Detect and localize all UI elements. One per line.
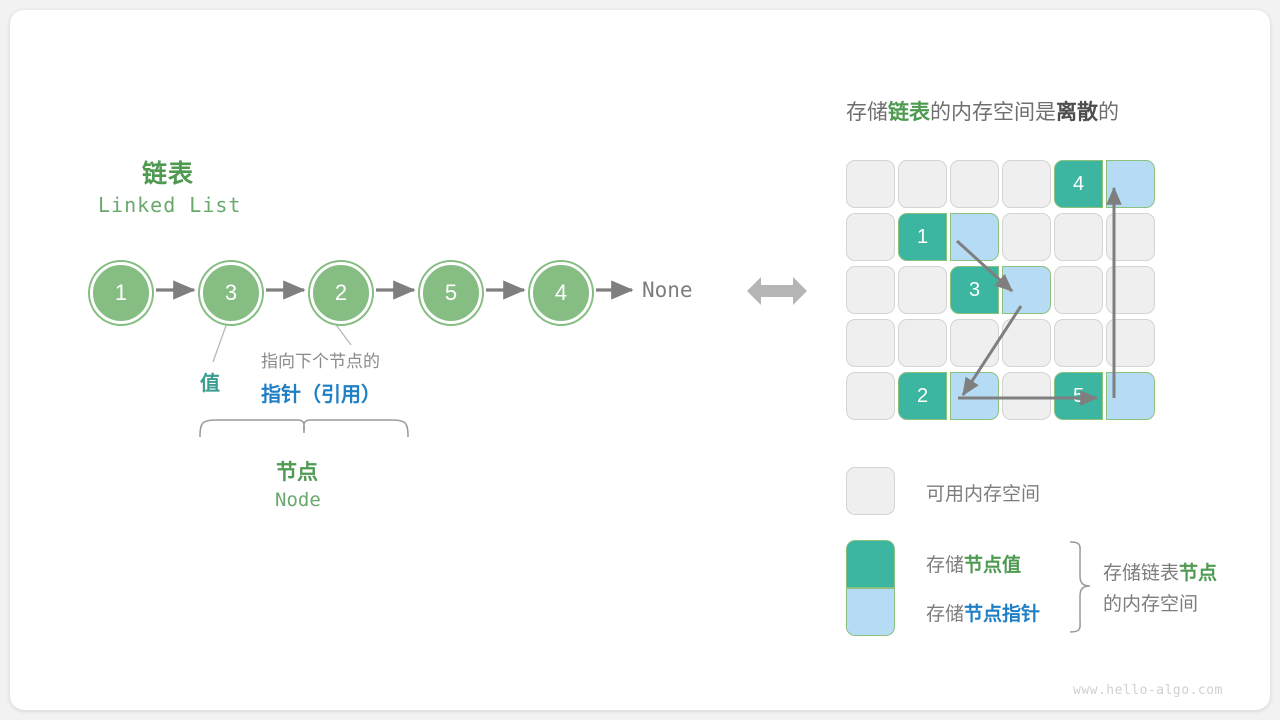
- memory-title-part: 链表: [888, 101, 930, 124]
- list-node: 1: [90, 262, 152, 324]
- watermark: www.hello-algo.com: [1073, 683, 1223, 698]
- diagram-card: 链表 Linked List 1 3 2 5 4 None 值 指向下个节点的 …: [10, 10, 1270, 710]
- memory-cell-value: 5: [1054, 372, 1103, 420]
- memory-cell-free: [846, 160, 895, 208]
- memory-cell-free: [1054, 213, 1103, 261]
- memory-cell-free: [950, 319, 999, 367]
- memory-cell-number: 3: [969, 279, 980, 302]
- bidirectional-arrow-icon: [745, 272, 809, 312]
- memory-cell-free: [1054, 319, 1103, 367]
- memory-cell-value: 4: [1054, 160, 1103, 208]
- legend-free-label: 可用内存空间: [926, 479, 1040, 506]
- memory-cell-free: [1002, 319, 1051, 367]
- memory-cell-value: 3: [950, 266, 999, 314]
- legend-brace: [1064, 538, 1104, 638]
- memory-title-part: 的内存空间是: [930, 101, 1056, 124]
- legend-side-line1-b: 节点: [1179, 563, 1217, 584]
- list-node: 4: [530, 262, 592, 324]
- node-value: 2: [335, 280, 347, 306]
- memory-cell-free: [1106, 213, 1155, 261]
- memory-cell-number: 5: [1073, 385, 1084, 408]
- legend-pointer-label: 存储节点指针: [926, 599, 1040, 626]
- memory-cell-value: 2: [898, 372, 947, 420]
- value-annotation: 值: [200, 367, 220, 396]
- memory-title-part: 离散: [1056, 101, 1098, 124]
- memory-cell-pointer: [950, 213, 999, 261]
- list-node: 3: [200, 262, 262, 324]
- node-annotation-cn: 节点: [276, 456, 318, 486]
- memory-cell-free: [950, 160, 999, 208]
- memory-cell-pointer: [950, 372, 999, 420]
- memory-cell-free: [1054, 266, 1103, 314]
- legend-swatch-free: [846, 467, 895, 515]
- pointer-annotation-line2: 指针（引用）: [261, 378, 381, 407]
- memory-cell-free: [1106, 319, 1155, 367]
- legend-pointer-prefix: 存储: [926, 604, 964, 625]
- memory-cell-number: 4: [1073, 173, 1084, 196]
- legend-swatch-value: [846, 540, 895, 588]
- memory-cell-free: [846, 319, 895, 367]
- memory-cell-number: 2: [917, 385, 928, 408]
- memory-title: 存储链表的内存空间是离散的: [846, 96, 1119, 126]
- memory-title-part: 的: [1098, 101, 1119, 124]
- legend-value-label: 存储节点值: [926, 550, 1021, 577]
- memory-cell-free: [1106, 266, 1155, 314]
- memory-cell-value: 1: [898, 213, 947, 261]
- legend-side-line2: 的内存空间: [1103, 594, 1198, 615]
- memory-cell-pointer: [1106, 160, 1155, 208]
- legend-swatch-pointer: [846, 588, 895, 636]
- memory-cell-free: [1002, 160, 1051, 208]
- legend-value-prefix: 存储: [926, 555, 964, 576]
- memory-cell-free: [846, 213, 895, 261]
- list-node: 5: [420, 262, 482, 324]
- memory-cell-free: [898, 160, 947, 208]
- memory-grid: 4 1 3 2 5: [846, 160, 1158, 422]
- memory-cell-pointer: [1106, 372, 1155, 420]
- legend-side-label: 存储链表节点 的内存空间: [1103, 558, 1217, 620]
- list-node: 2: [310, 262, 372, 324]
- memory-cell-number: 1: [917, 226, 928, 249]
- node-value: 4: [555, 280, 567, 306]
- legend-pointer-bold: 节点指针: [964, 604, 1040, 625]
- node-annotation-en: Node: [275, 489, 321, 511]
- memory-cell-free: [898, 266, 947, 314]
- memory-cell-free: [898, 319, 947, 367]
- memory-title-part: 存储: [846, 101, 888, 124]
- memory-cell-free: [846, 266, 895, 314]
- memory-cell-free: [1002, 213, 1051, 261]
- list-terminator-label: None: [642, 278, 693, 302]
- legend-side-line1-a: 存储链表: [1103, 563, 1179, 584]
- memory-cell-pointer: [1002, 266, 1051, 314]
- node-value: 5: [445, 280, 457, 306]
- memory-cell-free: [846, 372, 895, 420]
- memory-cell-free: [1002, 372, 1051, 420]
- node-value: 3: [225, 280, 237, 306]
- node-value: 1: [115, 280, 127, 306]
- pointer-annotation-line1: 指向下个节点的: [261, 347, 380, 372]
- legend-value-bold: 节点值: [964, 555, 1021, 576]
